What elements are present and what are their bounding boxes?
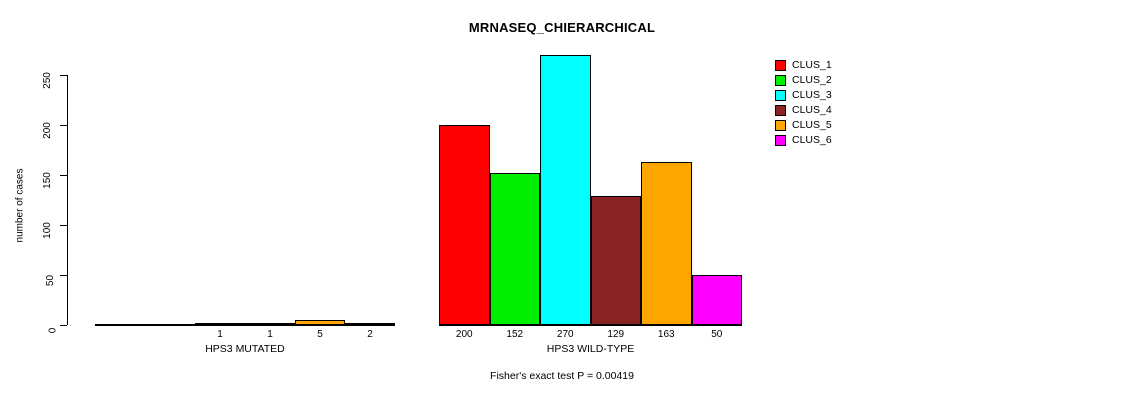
legend-item-clus-2: CLUS_2	[775, 73, 832, 88]
legend-swatch-clus-3	[775, 90, 786, 101]
y-tick-200	[60, 125, 67, 126]
group-baseline	[439, 325, 742, 326]
legend-label-clus-2: CLUS_2	[792, 75, 832, 86]
y-axis-line	[67, 75, 68, 325]
bar-value-label: 5	[295, 329, 345, 341]
y-tick-0	[60, 325, 67, 326]
y-tick-150	[60, 175, 67, 176]
bar-clus_3[interactable]	[540, 55, 591, 325]
legend-item-clus-4: CLUS_4	[775, 103, 832, 118]
legend-label-clus-4: CLUS_4	[792, 105, 832, 116]
y-tick-label-100: 100	[0, 220, 56, 231]
bar-clus_5[interactable]	[641, 162, 692, 325]
bar-value-label: 50	[692, 329, 743, 341]
group-baseline	[95, 325, 395, 326]
bar-value-label: 152	[490, 329, 541, 341]
bar-value-label: 2	[345, 329, 395, 341]
bar-clus_6[interactable]	[692, 275, 743, 325]
bar-clus_4[interactable]	[245, 323, 295, 325]
bar-clus_3[interactable]	[195, 323, 245, 325]
bar-group-hps3-mutated: HPS3 MUTATED 1152	[95, 55, 395, 325]
bar-clus_1[interactable]	[95, 324, 145, 325]
bar-value-label: 200	[439, 329, 490, 341]
legend-item-clus-3: CLUS_3	[775, 88, 832, 103]
footnote: Fisher's exact test P = 0.00419	[0, 370, 1140, 382]
legend-swatch-clus-2	[775, 75, 786, 86]
legend-swatch-clus-6	[775, 135, 786, 146]
bar-value-label: 129	[591, 329, 642, 341]
legend-swatch-clus-1	[775, 60, 786, 71]
legend: CLUS_1 CLUS_2 CLUS_3 CLUS_4 CLUS_5 CLUS_…	[775, 58, 832, 148]
y-tick-label-50: 50	[0, 270, 56, 281]
group-title-left: HPS3 MUTATED	[95, 343, 395, 355]
bar-clus_1[interactable]	[439, 125, 490, 325]
y-tick-label-0: 0	[0, 320, 56, 331]
legend-label-clus-3: CLUS_3	[792, 90, 832, 101]
y-tick-100	[60, 225, 67, 226]
bar-clus_2[interactable]	[145, 324, 195, 325]
legend-swatch-clus-4	[775, 105, 786, 116]
bar-clus_4[interactable]	[591, 196, 642, 325]
y-tick-label-150: 150	[0, 170, 56, 181]
footnote-text: Fisher's exact test P = 0.00419	[490, 370, 634, 382]
bar-value-label: 1	[245, 329, 295, 341]
y-tick-label-200: 200	[0, 120, 56, 131]
bar-value-label: 270	[540, 329, 591, 341]
bar-value-label: 163	[641, 329, 692, 341]
legend-swatch-clus-5	[775, 120, 786, 131]
chart-title: MRNASEQ_CHIERARCHICAL	[0, 20, 1140, 35]
legend-item-clus-6: CLUS_6	[775, 133, 832, 148]
legend-item-clus-5: CLUS_5	[775, 118, 832, 133]
legend-label-clus-1: CLUS_1	[792, 60, 832, 71]
bar-clus_2[interactable]	[490, 173, 541, 325]
chart-canvas: MRNASEQ_CHIERARCHICAL number of cases 0 …	[0, 0, 1140, 400]
group-title-right: HPS3 WILD-TYPE	[439, 343, 742, 355]
bar-group-hps3-wild-type: HPS3 WILD-TYPE 20015227012916350	[439, 55, 742, 325]
legend-item-clus-1: CLUS_1	[775, 58, 832, 73]
bar-value-label: 1	[195, 329, 245, 341]
legend-label-clus-6: CLUS_6	[792, 135, 832, 146]
y-tick-50	[60, 275, 67, 276]
bar-clus_5[interactable]	[295, 320, 345, 325]
legend-label-clus-5: CLUS_5	[792, 120, 832, 131]
bar-clus_6[interactable]	[345, 323, 395, 325]
y-tick-label-250: 250	[0, 70, 56, 81]
y-tick-250	[60, 75, 67, 76]
chart-title-text: MRNASEQ_CHIERARCHICAL	[469, 20, 655, 35]
